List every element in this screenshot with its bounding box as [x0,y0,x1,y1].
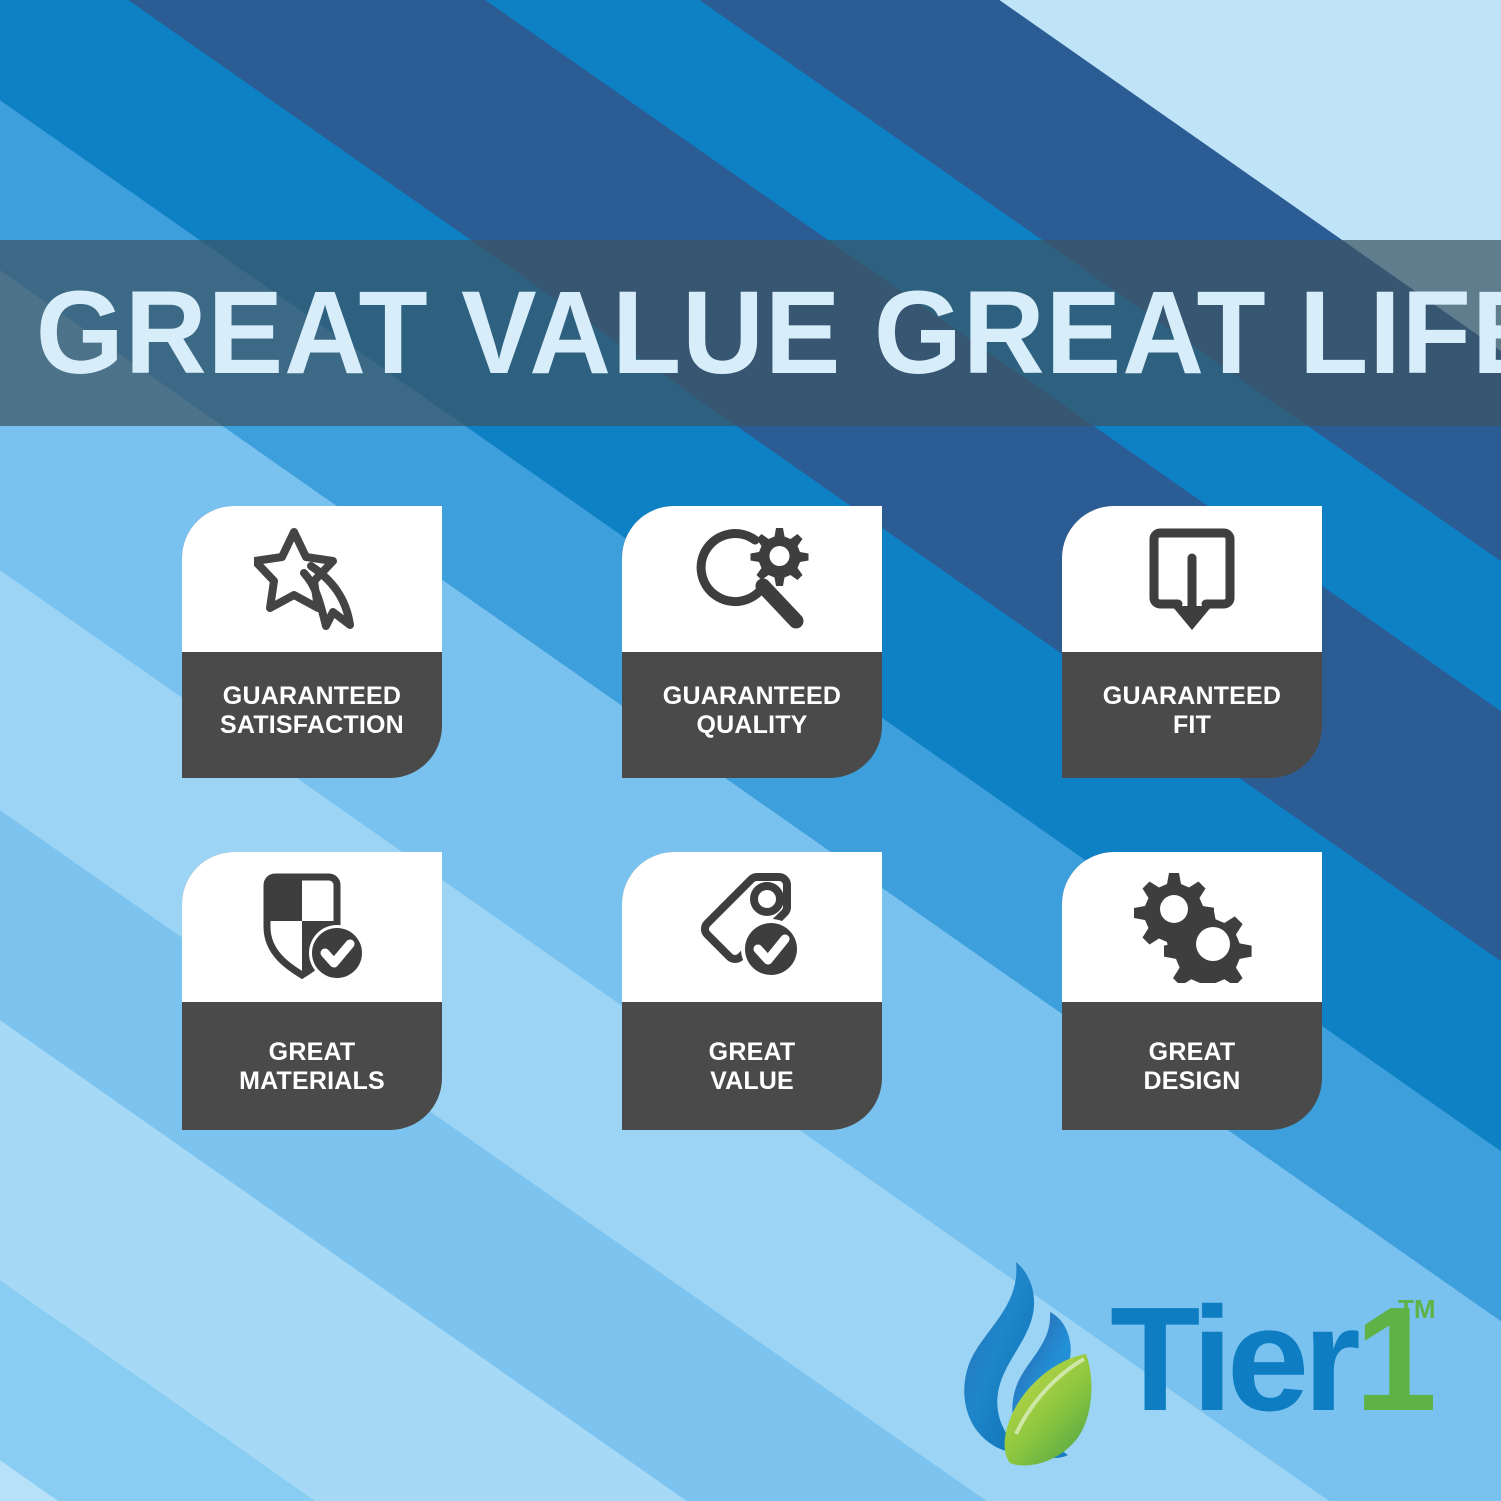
card-label: GREAT VALUE [622,1002,882,1130]
card-label: GREAT DESIGN [1062,1002,1322,1130]
trademark-icon: TM [1398,1294,1436,1325]
download-into-box-icon [1142,524,1242,634]
card-icon-area [622,852,882,1002]
card-label: GREAT MATERIALS [182,1002,442,1130]
feature-row-top: GUARANTEED SATISFACTION [182,506,1322,778]
feature-card-grid: GUARANTEED SATISFACTION [182,506,1322,1130]
headline-text: GREAT VALUE GREAT LIFE [30,274,1471,392]
feature-card-great-materials[interactable]: GREAT MATERIALS [182,852,442,1130]
shield-check-icon [255,871,369,983]
price-tag-check-icon [693,871,811,983]
logo-word-tier: Tier [1110,1277,1355,1442]
feature-card-guaranteed-quality[interactable]: GUARANTEED QUALITY [622,506,882,778]
card-label: GUARANTEED QUALITY [622,652,882,778]
card-icon-area [1062,852,1322,1002]
card-label: GUARANTEED SATISFACTION [182,652,442,778]
water-drop-leaf-icon [958,1258,1108,1478]
tier1-logo[interactable]: Tier1 TM [958,1258,1458,1483]
magnifier-gear-icon [693,524,811,634]
shooting-star-icon [254,526,370,632]
card-icon-area [182,852,442,1002]
gears-icon [1131,871,1253,983]
feature-card-guaranteed-satisfaction[interactable]: GUARANTEED SATISFACTION [182,506,442,778]
feature-row-bottom: GREAT MATERIALS GREAT VALUE [182,852,1322,1130]
card-icon-area [182,506,442,652]
logo-wordmark: Tier1 [1110,1286,1431,1434]
feature-card-great-value[interactable]: GREAT VALUE [622,852,882,1130]
card-label: GUARANTEED FIT [1062,652,1322,778]
card-icon-area [622,506,882,652]
feature-card-great-design[interactable]: GREAT DESIGN [1062,852,1322,1130]
card-icon-area [1062,506,1322,652]
feature-card-guaranteed-fit[interactable]: GUARANTEED FIT [1062,506,1322,778]
headline-banner: GREAT VALUE GREAT LIFE [0,240,1501,426]
promo-poster: GREAT VALUE GREAT LIFE GUARANTE [0,0,1501,1501]
